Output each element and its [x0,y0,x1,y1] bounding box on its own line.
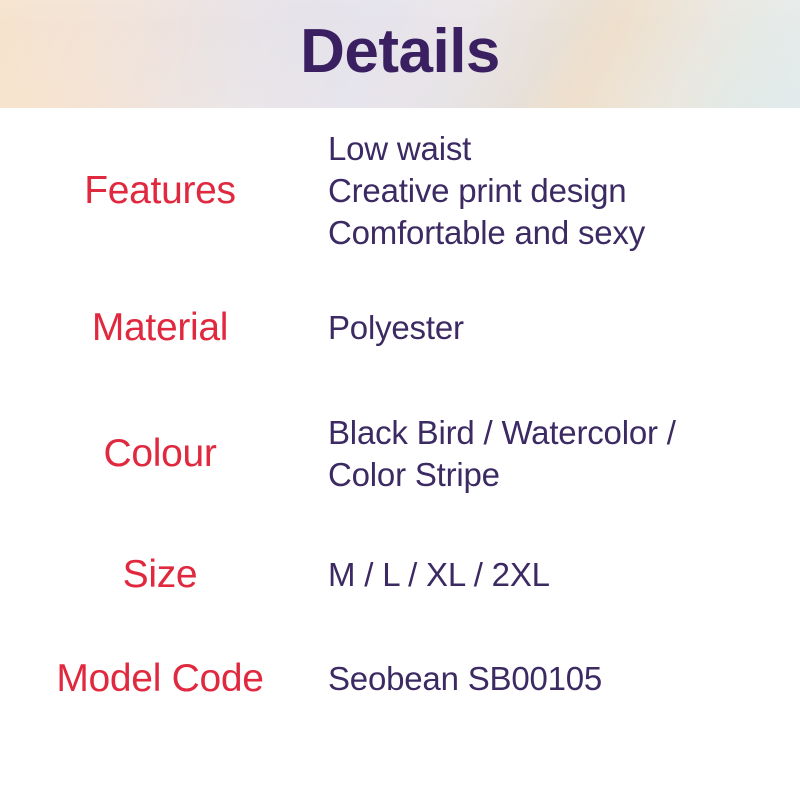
detail-value-size: M / L / XL / 2XL [328,554,800,596]
detail-row-colour: Colour Black Bird / Watercolor / Color S… [0,382,800,526]
detail-value-material: Polyester [328,307,800,349]
detail-value-line: Color Stripe [328,454,780,496]
details-table: Features Low waist Creative print design… [0,108,800,734]
detail-value-features: Low waist Creative print design Comforta… [328,128,800,255]
detail-value-line: Creative print design [328,170,780,212]
detail-label-model-code: Model Code [0,658,328,700]
detail-row-material: Material Polyester [0,274,800,382]
detail-row-model-code: Model Code Seobean SB00105 [0,624,800,734]
detail-value-model-code: Seobean SB00105 [328,658,800,700]
detail-label-colour: Colour [0,433,328,475]
detail-label-material: Material [0,307,328,349]
detail-label-features: Features [0,170,328,212]
detail-value-line: Low waist [328,128,780,170]
detail-value-line: Comfortable and sexy [328,212,780,254]
detail-value-line: Polyester [328,307,780,349]
detail-row-size: Size M / L / XL / 2XL [0,526,800,624]
detail-value-line: M / L / XL / 2XL [328,554,780,596]
detail-value-colour: Black Bird / Watercolor / Color Stripe [328,412,800,496]
detail-value-line: Seobean SB00105 [328,658,780,700]
detail-value-line: Black Bird / Watercolor / [328,412,780,454]
page-title: Details [0,0,800,108]
detail-label-size: Size [0,554,328,596]
detail-row-features: Features Low waist Creative print design… [0,108,800,274]
product-details-page: Details Features Low waist Creative prin… [0,0,800,800]
